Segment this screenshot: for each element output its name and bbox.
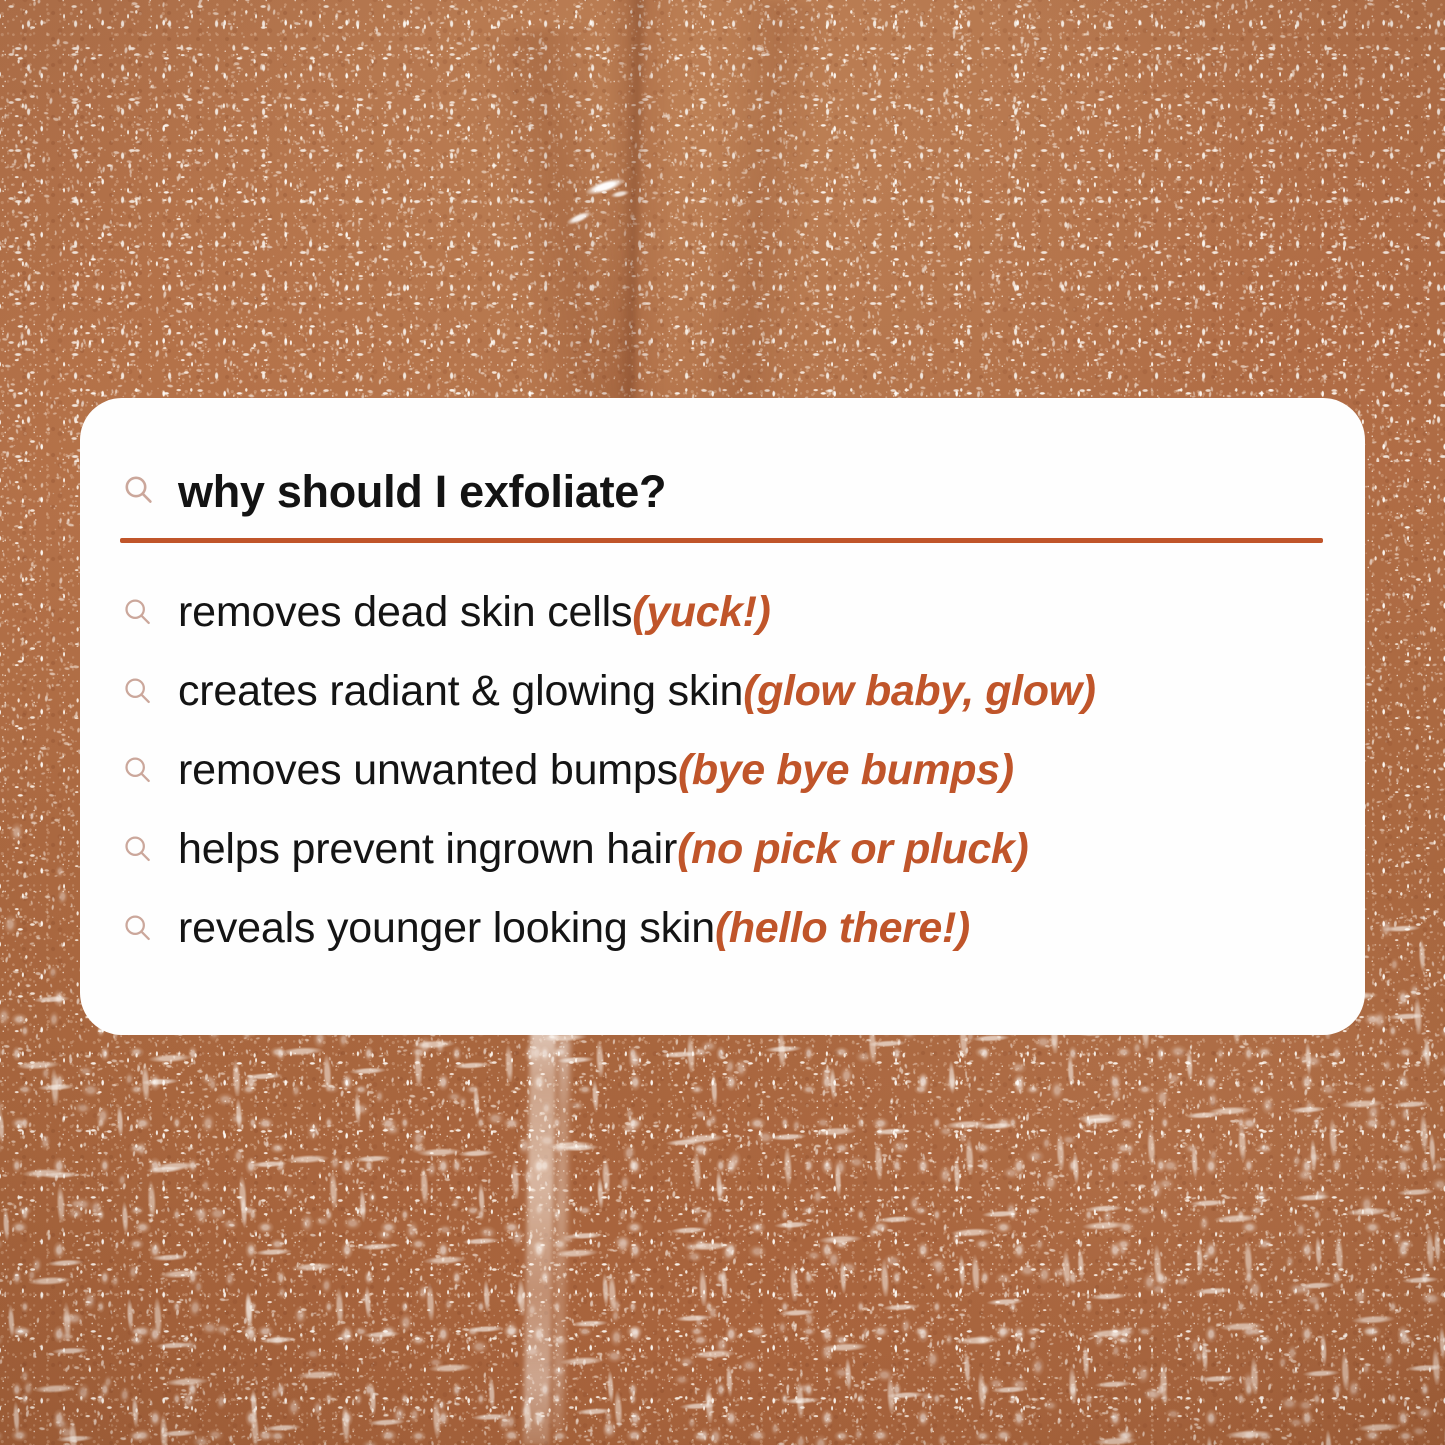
search-icon — [120, 755, 178, 787]
benefit-tag: (yuck!) — [632, 591, 770, 634]
benefit-text: removes unwanted bumps — [178, 749, 678, 792]
benefit-text: helps prevent ingrown hair — [178, 828, 677, 871]
benefit-text: reveals younger looking skin — [178, 907, 715, 950]
search-icon — [120, 597, 178, 629]
benefit-tag: (bye bye bumps) — [678, 749, 1014, 792]
benefit-tag: (hello there!) — [715, 907, 970, 950]
benefit-tag: (glow baby, glow) — [743, 670, 1095, 713]
card-header: why should I exfoliate? — [120, 460, 1323, 522]
list-item: helps prevent ingrown hair (no pick or p… — [120, 810, 1323, 889]
list-item: removes unwanted bumps (bye bye bumps) — [120, 731, 1323, 810]
benefits-list: removes dead skin cells (yuck!) creates … — [120, 573, 1323, 968]
search-icon — [120, 676, 178, 708]
list-item: reveals younger looking skin (hello ther… — [120, 889, 1323, 968]
list-item: removes dead skin cells (yuck!) — [120, 573, 1323, 652]
search-icon — [120, 913, 178, 945]
page-title: why should I exfoliate? — [178, 469, 666, 514]
promo-graphic: why should I exfoliate? removes dead ski… — [0, 0, 1445, 1445]
header-divider — [120, 538, 1323, 543]
list-item: creates radiant & glowing skin (glow bab… — [120, 652, 1323, 731]
benefit-text: removes dead skin cells — [178, 591, 632, 634]
search-icon — [120, 834, 178, 866]
benefit-tag: (no pick or pluck) — [677, 828, 1028, 871]
search-icon — [120, 474, 178, 508]
benefit-text: creates radiant & glowing skin — [178, 670, 743, 713]
benefits-card: why should I exfoliate? removes dead ski… — [80, 398, 1365, 1035]
